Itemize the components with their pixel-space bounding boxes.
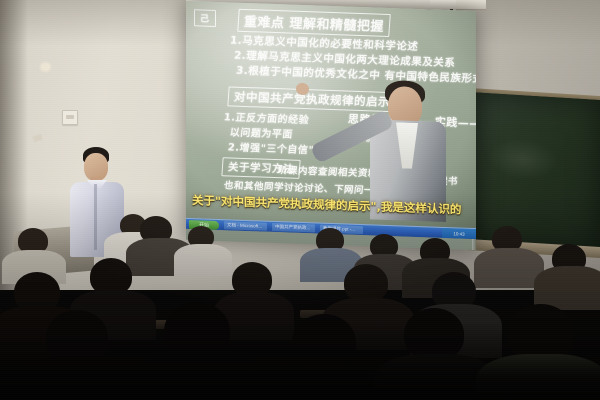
projection-screen: 己 重难点 理解和精髓把握 1.马克思义中国化的必要性和科学论述 2.理解马克思… xyxy=(186,1,476,250)
classroom-photo: 己 重难点 理解和精髓把握 1.马克思义中国化的必要性和科学论述 2.理解马克思… xyxy=(0,0,600,400)
power-socket xyxy=(62,110,78,125)
audience xyxy=(0,214,600,400)
projected-video: 己 重难点 理解和精髓把握 1.马克思义中国化的必要性和科学论述 2.理解马克思… xyxy=(186,1,476,239)
student-head xyxy=(344,264,388,302)
student-shoulders xyxy=(174,244,232,276)
video-lecturer-hand xyxy=(296,83,309,95)
foreground-darkness xyxy=(0,322,600,400)
video-section-1-line-3: 2.增强"三个自信" xyxy=(227,138,315,156)
wall-scuff-upper xyxy=(40,62,51,72)
blackboard-chalk-dust xyxy=(488,137,558,181)
video-corner-mark: 己 xyxy=(194,9,216,27)
